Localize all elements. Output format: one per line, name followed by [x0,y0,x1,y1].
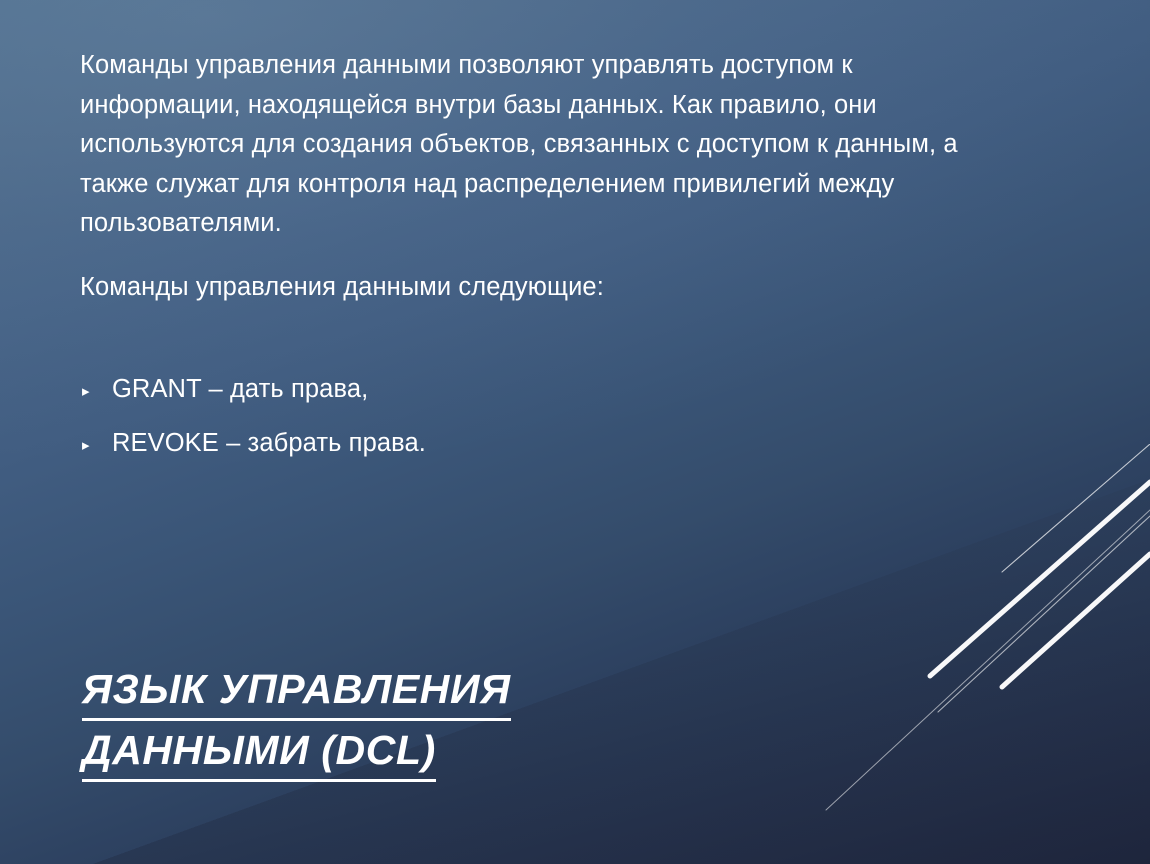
streak-line-2 [1002,554,1150,687]
page-title: ЯЗЫК УПРАВЛЕНИЯ ДАННЫМИ (DCL) [82,662,642,782]
streak-line-3 [1002,444,1150,572]
presentation-slide: Команды управления данными позволяют упр… [0,0,1150,864]
page-title-line-1: ЯЗЫК УПРАВЛЕНИЯ [82,662,511,721]
diagonal-streak-lines-decoration [810,444,1150,864]
streak-line-4 [938,516,1150,712]
body-paragraph-2: Команды управления данными следующие: [80,268,985,308]
list-item: ▸ REVOKE – забрать права. [82,426,782,464]
bullet-triangle-icon: ▸ [82,429,112,463]
streak-line-5 [826,510,1150,810]
streak-line-1 [930,482,1150,676]
body-paragraph-1: Команды управления данными позволяют упр… [80,46,985,244]
list-item-label: GRANT – дать права, [112,372,782,406]
page-title-line-2: ДАННЫМИ (DCL) [82,723,436,782]
command-list: ▸ GRANT – дать права, ▸ REVOKE – забрать… [82,372,782,480]
list-item-label: REVOKE – забрать права. [112,426,782,460]
list-item: ▸ GRANT – дать права, [82,372,782,410]
slide-body: Команды управления данными позволяют упр… [80,46,985,307]
bullet-triangle-icon: ▸ [82,375,112,409]
